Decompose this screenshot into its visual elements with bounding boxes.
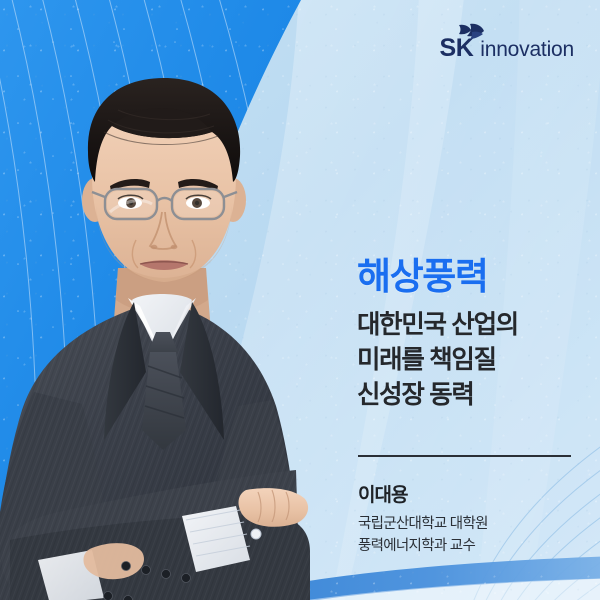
subheadline-line-2: 미래를 책임질	[357, 343, 581, 378]
speaker-affiliation-line-1: 국립군산대학교 대학원	[358, 513, 588, 535]
sk-wing-mark-icon	[458, 23, 484, 41]
subheadline: 대한민국 산업의 미래를 책임질 신성장 동력	[357, 308, 581, 414]
divider	[358, 455, 571, 457]
speaker-affiliation: 국립군산대학교 대학원 풍력에너지학과 교수	[358, 513, 588, 557]
subheadline-line-3: 신성장 동력	[357, 378, 581, 413]
speaker-promo-card: SK innovation 해상풍력 대한민국 산업의 미래를 책임질 신성장 …	[0, 0, 600, 600]
subheadline-line-1: 대한민국 산업의	[357, 308, 581, 343]
headline: 해상풍력	[357, 258, 581, 295]
logo-innovation-text: innovation	[480, 39, 574, 61]
speaker-photo	[0, 0, 330, 600]
sk-innovation-logo: SK innovation	[440, 36, 574, 61]
headline-block: 해상풍력 대한민국 산업의 미래를 책임질 신성장 동력	[357, 258, 581, 414]
speaker-info: 이대용 국립군산대학교 대학원 풍력에너지학과 교수	[358, 484, 588, 557]
logo-sk-text: SK	[440, 36, 474, 61]
speaker-name: 이대용	[358, 484, 588, 508]
speaker-affiliation-line-2: 풍력에너지학과 교수	[358, 535, 588, 557]
